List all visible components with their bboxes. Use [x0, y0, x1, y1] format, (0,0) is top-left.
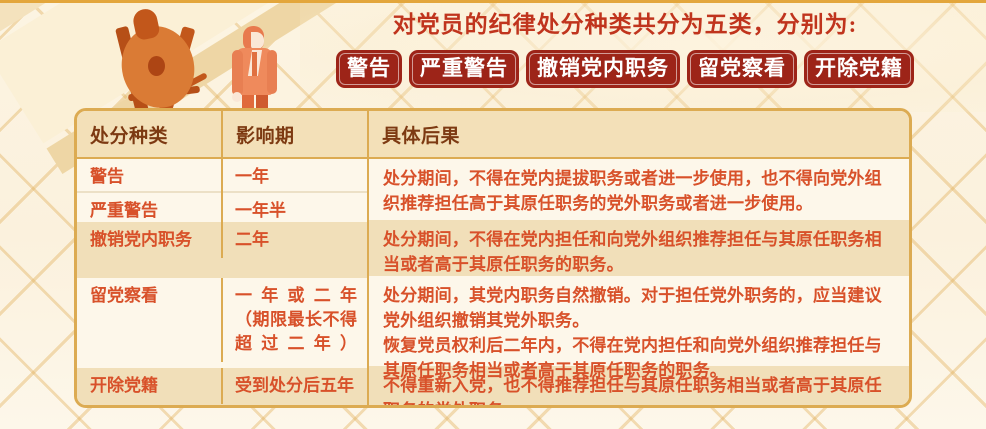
official-seal-icon — [104, 6, 222, 122]
cell-type-probation: 留党察看 — [77, 278, 221, 314]
infographic-canvas: 对党员的纪律处分种类共分为五类，分别为: 警告 严重警告 撤销党内职务 留党察看… — [0, 0, 986, 429]
seal-hole — [148, 56, 165, 76]
heading-block: 对党员的纪律处分种类共分为五类，分别为: 警告 严重警告 撤销党内职务 留党察看… — [320, 8, 930, 102]
cell-consequence-probation: 处分期间，其党内职务自然撤销。对于担任党外职务的，应当建议党外组织撤销其党外职务… — [369, 276, 909, 366]
consequence-text-3a: 处分期间，其党内职务自然撤销。对于担任党外职务的，应当建议党外组织撤销其党外职务… — [383, 283, 897, 333]
category-tag-probation[interactable]: 留党察看 — [687, 50, 797, 88]
cell-period-remove-post: 二年 — [221, 222, 367, 258]
consequence-text-2: 处分期间，不得在党内担任和向党外组织推荐担任与其原任职务相当或者高于其原任职务的… — [383, 227, 897, 277]
table-row-probation: 留党察看 一 年 或 二 年（期限最长不得超过二年） — [77, 278, 367, 368]
category-tag-row: 警告 严重警告 撤销党内职务 留党察看 开除党籍 — [320, 50, 930, 88]
person-hand — [232, 92, 242, 102]
cell-consequence-remove-post: 处分期间，不得在党内担任和向党外组织推荐担任与其原任职务相当或者高于其原任职务的… — [369, 220, 909, 276]
cell-type-warning: 警告 — [77, 159, 221, 195]
table-row-remove-post: 撤销党内职务 二年 — [77, 222, 367, 278]
table-row-serious-warning: 严重警告 一年半 — [77, 193, 367, 222]
table-header-row: 处分种类 影响期 具体后果 — [77, 111, 909, 157]
table-row-warning: 警告 一年 — [77, 159, 367, 191]
category-tag-warning[interactable]: 警告 — [336, 50, 402, 88]
table-row-expulsion: 开除党籍 受到处分后五年 — [77, 368, 367, 408]
category-tag-serious-warning[interactable]: 严重警告 — [409, 50, 519, 88]
category-tag-expulsion[interactable]: 开除党籍 — [804, 50, 914, 88]
person-tie — [252, 52, 257, 76]
person-arm-left — [232, 50, 243, 96]
table-body: 警告 一年 严重警告 一年半 撤销党内职务 二年 留党察看 一 年 或 二 年（… — [77, 159, 909, 408]
person-arm-right — [267, 50, 277, 94]
consequence-text-1: 处分期间，不得在党内提拔职务或者进一步使用，也不得向党外组织推荐担任高于其原任职… — [383, 166, 897, 216]
consequence-text-4: 不得重新入党，也不得推荐担任与其原任职务相当或者高于其原任职务的党外职务。 — [383, 373, 897, 408]
top-gold-rule — [0, 0, 986, 3]
discipline-table: 处分种类 影响期 具体后果 警告 一年 严重警告 一年半 撤销党内职务 二年 — [74, 108, 912, 408]
person-face — [251, 32, 264, 49]
cell-period-probation: 一 年 或 二 年（期限最长不得超过二年） — [221, 278, 367, 362]
cell-period-expulsion: 受到处分后五年 — [221, 368, 367, 404]
cell-consequence-warning-and-serious: 处分期间，不得在党内提拔职务或者进一步使用，也不得向党外组织推荐担任高于其原任职… — [369, 159, 909, 220]
page-title: 对党员的纪律处分种类共分为五类，分别为: — [320, 8, 930, 42]
table-consequence-column: 处分期间，不得在党内提拔职务或者进一步使用，也不得向党外组织推荐担任高于其原任职… — [367, 159, 909, 408]
column-header-period: 影响期 — [221, 111, 367, 157]
cell-consequence-expulsion: 不得重新入党，也不得推荐担任与其原任职务相当或者高于其原任职务的党外职务。 — [369, 366, 909, 408]
column-header-consequence: 具体后果 — [367, 111, 909, 157]
category-tag-remove-post[interactable]: 撤销党内职务 — [526, 50, 680, 88]
cell-type-remove-post: 撤销党内职务 — [77, 222, 221, 258]
column-header-type: 处分种类 — [77, 111, 221, 157]
table-left-columns: 警告 一年 严重警告 一年半 撤销党内职务 二年 留党察看 一 年 或 二 年（… — [77, 159, 367, 408]
cell-period-warning: 一年 — [221, 159, 367, 195]
cell-type-expulsion: 开除党籍 — [77, 368, 221, 404]
